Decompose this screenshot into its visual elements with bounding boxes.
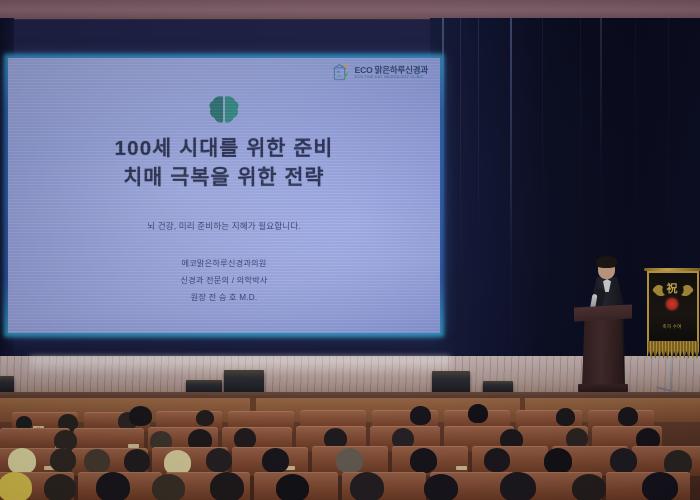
audience-area: A1	[0, 398, 700, 500]
audience-head	[152, 474, 185, 500]
audience-head	[410, 448, 437, 473]
floor-monitor-1	[0, 376, 14, 393]
audience-head	[124, 449, 150, 473]
audience-head	[336, 448, 363, 473]
credit-specialty: 신경과 전문의 / 의학박사	[8, 273, 440, 290]
seat-label	[456, 466, 467, 470]
audience-head	[96, 472, 130, 500]
audience-head	[484, 448, 510, 472]
audience-head	[0, 472, 32, 500]
audience-head	[206, 448, 232, 472]
audience-head	[544, 448, 572, 474]
floor-monitor-4	[432, 371, 470, 394]
slide-title-block: 100세 시대를 위한 준비 치매 극복을 위한 전략	[8, 134, 440, 192]
audience-head	[618, 407, 638, 426]
slide-credits-block: 에코맑은하루신경과의원 신경과 전문의 / 의학박사 원장 전 승 호 M.D.	[8, 256, 440, 306]
auditorium-photo: ECO 맑은하루신경과 ECO FINE DAY NEUROLOGY CLINI…	[0, 0, 700, 500]
credit-clinic-name: 에코맑은하루신경과의원	[8, 256, 440, 273]
audience-head	[500, 472, 536, 500]
lectern	[578, 306, 628, 392]
audience-head	[572, 474, 606, 500]
banner-character: 祝	[646, 280, 698, 296]
audience-head	[262, 448, 289, 473]
audience-head	[44, 474, 76, 500]
audience-head	[642, 472, 678, 500]
audience-head	[276, 474, 309, 500]
floor-monitor-3	[224, 370, 264, 394]
slide-surface: ECO 맑은하루신경과 ECO FINE DAY NEUROLOGY CLINI…	[8, 58, 440, 333]
banner-subtext: 축하 수여	[646, 324, 698, 330]
audience-head	[468, 404, 488, 423]
audience-head	[610, 448, 637, 473]
banner-fringe	[647, 341, 699, 359]
projection-screen: ECO 맑은하루신경과 ECO FINE DAY NEUROLOGY CLINI…	[8, 58, 440, 333]
audience-head	[84, 449, 110, 473]
slide-title-line-1: 100세 시대를 위한 준비	[8, 134, 440, 163]
congratulatory-banner: 祝 축하 수여	[646, 268, 700, 368]
clinic-logo: ECO 맑은하루신경과 ECO FINE DAY NEUROLOGY CLINI…	[332, 63, 428, 82]
credit-presenter-name: 원장 전 승 호 M.D.	[8, 290, 440, 307]
slide-tagline: 뇌 건강, 미리 준비하는 지혜가 필요합니다.	[8, 220, 440, 232]
clinic-house-leaf-logo-icon	[332, 63, 351, 82]
brain-icon	[206, 94, 242, 126]
red-phoenix-emblem-icon	[666, 298, 678, 310]
clinic-logo-title: ECO 맑은하루신경과	[355, 66, 428, 75]
clinic-logo-subtitle: ECO FINE DAY NEUROLOGY CLINIC	[355, 76, 428, 80]
presenter-hair	[596, 256, 617, 268]
audience-head	[424, 474, 458, 500]
audience-head	[350, 472, 384, 500]
audience-head	[210, 472, 244, 500]
audience-head	[196, 410, 214, 426]
audience-head	[8, 448, 36, 474]
audience-head	[129, 406, 152, 426]
audience-head	[410, 406, 431, 425]
audience-head	[556, 408, 575, 426]
audience-head	[50, 448, 76, 472]
audience-head	[234, 428, 256, 449]
slide-title-line-2: 치매 극복을 위한 전략	[8, 163, 440, 192]
